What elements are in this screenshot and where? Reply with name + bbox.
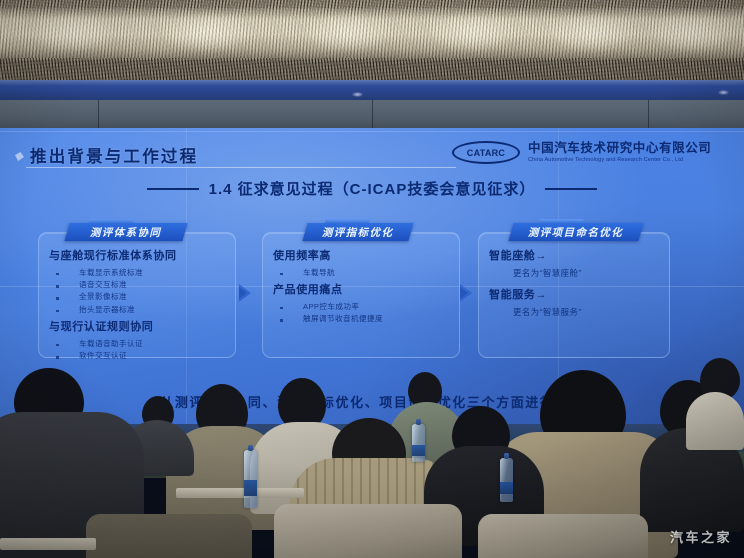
bottle-label (412, 445, 425, 456)
rename-target: 更名为“智慧服务” (513, 306, 661, 318)
list-item: 触屏调节收音机便捷度 (273, 313, 451, 325)
list-item: 车载导航 (273, 267, 451, 279)
list-item: 全景影像标准 (49, 291, 227, 303)
slide-subtitle-row: 1.4 征求意见过程（C-ICAP技委会意见征求） (0, 178, 744, 199)
downlight-icon (718, 90, 729, 95)
list-item: APP控车成功率 (273, 301, 451, 313)
water-bottle (412, 424, 425, 462)
catarc-logo: CATARC 中国汽车技术研究中心有限公司 China Automotive T… (452, 141, 711, 164)
chair-back (274, 504, 462, 558)
card-body: 智能座舱→ 更名为“智慧座舱” 智能服务→ 更名为“智慧服务” (489, 247, 661, 327)
list-item: 车载显示系统标准 (49, 267, 227, 279)
chair-back (478, 514, 648, 558)
screenshot-root: 推出背景与工作过程 CATARC 中国汽车技术研究中心有限公司 China Au… (0, 0, 744, 558)
card-body: 使用频率高 车载导航 产品使用痛点 APP控车成功率 触屏调节收音机便捷度 (273, 247, 451, 330)
screen-edge-line (0, 131, 744, 132)
card-banner: 测评体系协同 (64, 223, 187, 241)
section-heading: 与座舱现行标准体系协同 (49, 249, 227, 264)
panel-seam (648, 100, 649, 130)
bullet-list: 车载显示系统标准 语音交互标准 全景影像标准 抬头显示器标准 (49, 267, 227, 316)
audience (0, 330, 744, 558)
slide-subtitle: 1.4 征求意见过程（C-ICAP技委会意见征求） (209, 178, 536, 199)
water-bottle (500, 458, 513, 502)
ceiling-blue-band (0, 80, 744, 102)
table-edge (0, 538, 96, 550)
section-heading: 使用频率高 (273, 249, 451, 264)
catarc-wordmark-icon: CATARC (452, 141, 520, 164)
chevron-right-icon (457, 282, 475, 304)
panel-seam (98, 100, 99, 130)
slide-header-title: 推出背景与工作过程 (30, 143, 198, 167)
watermark: 汽车之家 (670, 527, 732, 546)
panel-seam (372, 100, 373, 130)
section-heading: 产品使用痛点 (273, 283, 451, 298)
bullet-list: 车载导航 (273, 267, 451, 279)
rename-target: 更名为“智慧座舱” (513, 267, 661, 279)
list-item: 抬头显示器标准 (49, 304, 227, 316)
chair-back (86, 514, 252, 558)
bottle-label (500, 482, 513, 494)
water-bottle (244, 450, 257, 508)
bullet-list: APP控车成功率 触屏调节收音机便捷度 (273, 301, 451, 326)
company-name-cn: 中国汽车技术研究中心有限公司 (528, 142, 711, 156)
rename-source: 智能座舱→ (489, 249, 661, 264)
card-banner-label: 测评体系协同 (90, 225, 161, 240)
card-banner-label: 测评指标优化 (322, 225, 393, 240)
card-banner: 测评项目命名优化 (508, 223, 643, 241)
card-banner: 测评指标优化 (302, 223, 413, 241)
list-item: 语音交互标准 (49, 279, 227, 291)
downlight-icon (352, 92, 363, 97)
subtitle-dash-left (147, 188, 199, 190)
company-name-en: China Automotive Technology and Research… (528, 157, 711, 163)
bottle-label (244, 480, 257, 496)
chevron-right-icon (236, 282, 254, 304)
wall-panels (0, 100, 744, 130)
table-edge (176, 488, 304, 498)
card-banner-label: 测评项目命名优化 (528, 225, 623, 240)
rename-source: 智能服务→ (489, 288, 661, 303)
ceiling (0, 0, 744, 84)
subtitle-dash-right (545, 188, 597, 190)
title-underline (26, 167, 456, 168)
